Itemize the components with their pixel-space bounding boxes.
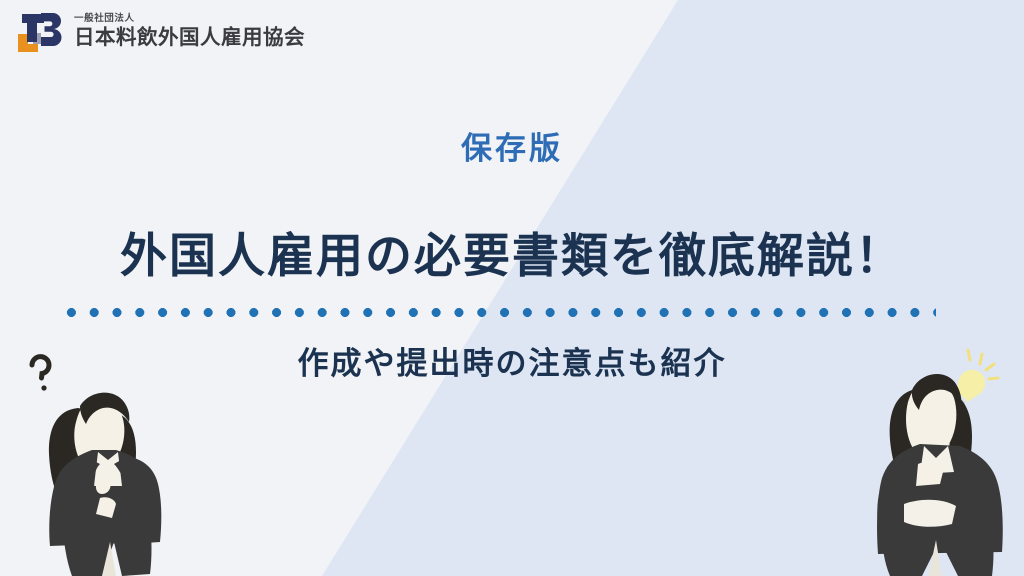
page-title: 外国人雇用の必要書類を徹底解説！	[0, 228, 1024, 283]
page-subtitle: 作成や提出時の注意点も紹介	[0, 345, 1024, 384]
brand-kicker: 一般社団法人	[74, 14, 305, 24]
brand-header: 一般社団法人 日本料飲外国人雇用協会	[14, 8, 305, 56]
brand-text-block: 一般社団法人 日本料飲外国人雇用協会	[74, 14, 305, 49]
dotted-divider	[60, 308, 936, 317]
brand-organization-name: 日本料飲外国人雇用協会	[74, 27, 305, 50]
question-mark-dot	[41, 385, 46, 390]
jb-monogram-logo-icon	[14, 8, 64, 56]
badge-label: 保存版	[0, 130, 1024, 167]
slide-canvas: 一般社団法人 日本料飲外国人雇用協会 保存版 外国人雇用の必要書類を徹底解説！ …	[0, 0, 1024, 576]
